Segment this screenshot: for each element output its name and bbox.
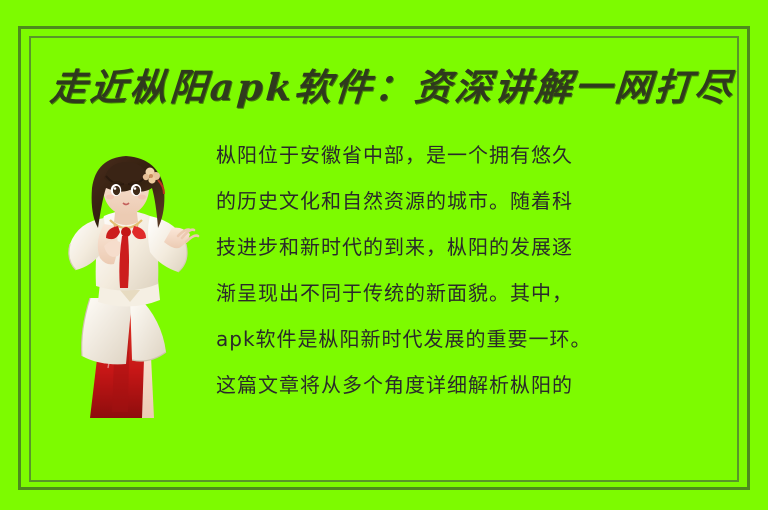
body-line: 技进步和新时代的到来，枞阳的发展逐 [216,224,724,270]
body-line: 的历史文化和自然资源的城市。随着科 [216,178,724,224]
body-line: apk软件是枞阳新时代发展的重要一环。 [216,316,724,362]
body-line: 枞阳位于安徽省中部，是一个拥有悠久 [216,132,724,178]
page-title: 走近枞阳apk软件：资深讲解一网打尽 [48,58,722,116]
body-line: 这篇文章将从多个角度详细解析枞阳的 [216,362,724,408]
poster-canvas: 走近枞阳apk软件：资深讲解一网打尽 [0,0,768,510]
anime-girl-illustration [46,150,204,418]
body-paragraph: 枞阳位于安徽省中部，是一个拥有悠久 的历史文化和自然资源的城市。随着科 技进步和… [216,132,724,408]
body-line: 渐呈现出不同于传统的新面貌。其中， [216,270,724,316]
